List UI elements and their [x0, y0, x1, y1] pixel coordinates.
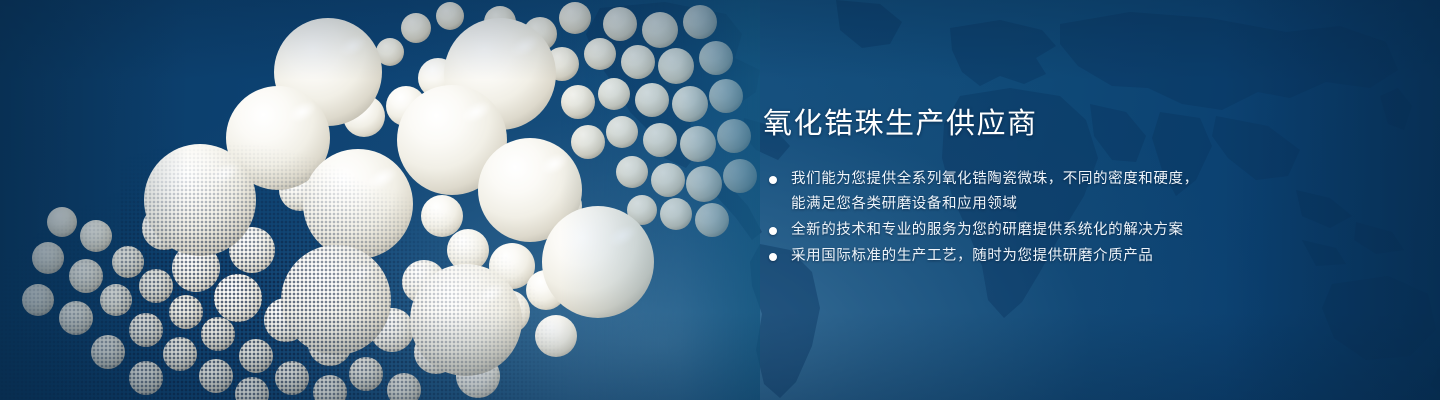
bullet-text-line1: 我们能为您提供全系列氧化锆陶瓷微珠，不同的密度和硬度，: [791, 171, 1199, 187]
hero-banner: 氧化锆珠生产供应商 我们能为您提供全系列氧化锆陶瓷微珠，不同的密度和硬度， 能满…: [0, 0, 1440, 400]
bullet-dot-icon: [769, 227, 777, 235]
banner-headline: 氧化锆珠生产供应商: [763, 106, 1403, 140]
zirconia-beads-image: [0, 0, 760, 400]
bullet-dot-icon: [769, 253, 777, 261]
list-item: 我们能为您提供全系列氧化锆陶瓷微珠，不同的密度和硬度， 能满足您各类研磨设备和应…: [763, 167, 1403, 217]
banner-feature-list: 我们能为您提供全系列氧化锆陶瓷微珠，不同的密度和硬度， 能满足您各类研磨设备和应…: [763, 167, 1403, 269]
banner-content: 氧化锆珠生产供应商 我们能为您提供全系列氧化锆陶瓷微珠，不同的密度和硬度， 能满…: [763, 106, 1403, 270]
bullet-text-line1: 采用国际标准的生产工艺，随时为您提供研磨介质产品: [791, 248, 1153, 264]
list-item: 全新的技术和专业的服务为您的研磨提供系统化的解决方案: [763, 218, 1403, 243]
bullet-dot-icon: [769, 176, 777, 184]
bullet-text-line2: 能满足您各类研磨设备和应用领域: [791, 192, 1403, 217]
list-item: 采用国际标准的生产工艺，随时为您提供研磨介质产品: [763, 244, 1403, 269]
bullet-text-line1: 全新的技术和专业的服务为您的研磨提供系统化的解决方案: [791, 222, 1184, 238]
